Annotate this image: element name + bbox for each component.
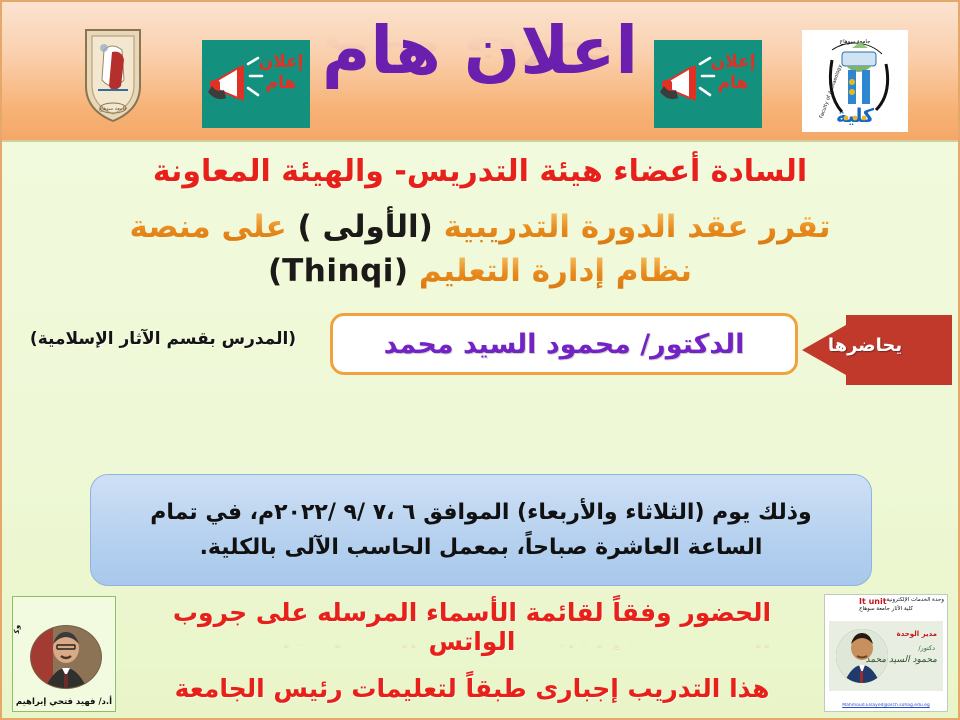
badge-line-2: هام <box>710 73 756 94</box>
badge-line-2: هام <box>258 73 304 94</box>
presented-by-arrow: يحاضرها <box>800 313 952 387</box>
lecturer-name: الدكتور/ محمود السيد محمد <box>384 329 745 360</box>
it-manager-role: مدير الوحدة <box>897 630 937 638</box>
faculty-of-archaeology-logo: جامعة سوهاج Faculty of Archaeology كلية <box>802 30 908 132</box>
it-unit-header: It unit وحدة الخدمات الإلكترونية كلية ال… <box>825 595 947 621</box>
it-unit-email-link[interactable]: Mahmoud.Elsayed@arch.sohag.edu.eg <box>833 703 939 708</box>
audience-line-reflection: السادة أعضاء هيئة التدريس- والهيئة المعا… <box>2 172 958 179</box>
attendance-note-reflection: الحضور وفقاً لقائمة الأسماء المرسله على … <box>126 644 818 650</box>
footer-notes: الحضور وفقاً لقائمة الأسماء المرسله على … <box>126 598 818 711</box>
course-line-part-a: تقرر عقد الدورة التدريبية <box>444 209 831 245</box>
announcement-badge-right: إعلان هام <box>654 40 762 128</box>
svg-text:جامعة سوهاج: جامعة سوهاج <box>99 106 127 112</box>
lecturer-row: (المدرس بقسم الآثار الإسلامية) الدكتور/ … <box>2 307 958 393</box>
poster-footer: وكيل الكلية عمادة كلية الآثار جامعة سوها… <box>2 592 958 718</box>
it-unit-card: It unit وحدة الخدمات الإلكترونية كلية ال… <box>824 594 948 712</box>
platform-name: (Thinqi) <box>268 253 408 289</box>
sohag-university-shield-icon: جامعة سوهاج <box>82 24 144 124</box>
mandatory-note: هذا التدريب إجبارى طبقاً لتعليمات رئيس ا… <box>126 674 818 703</box>
lecturer-department-title: (المدرس بقسم الآثار الإسلامية) <box>18 329 308 349</box>
it-unit-label: It unit <box>859 597 887 606</box>
svg-text:وكيل الكلية عمادة كلية الآثار: وكيل الكلية عمادة كلية الآثار جامعة سوها… <box>13 599 21 634</box>
megaphone-icon <box>660 54 716 112</box>
it-unit-faculty-name: كلية الآثار جامعة سوهاج <box>825 606 947 612</box>
presented-by-label: يحاضرها <box>800 335 930 356</box>
course-line: تقرر عقد الدورة التدريبية (الأولى ) على … <box>2 209 958 245</box>
dean-name: أ.د/ فهيد فتحي إبراهيم <box>13 697 115 707</box>
audience-line: السادة أعضاء هيئة التدريس- والهيئة المعا… <box>2 142 958 189</box>
poster-header: جامعة سوهاج إعلان هام <box>2 2 958 142</box>
poster-body: السادة أعضاء هيئة التدريس- والهيئة المعا… <box>2 142 958 718</box>
it-unit-body: مدير الوحدة دكتور/ محمود السيد محمد <box>829 621 943 691</box>
it-unit-arabic-name: وحدة الخدمات الإلكترونية <box>886 597 944 603</box>
badge-line-1: إعلان <box>710 52 756 73</box>
platform-line: نظام إدارة التعليم (Thinqi) <box>2 253 958 289</box>
mandatory-note-reflection: هذا التدريب إجبارى طبقاً لتعليمات رئيس ا… <box>126 691 818 697</box>
course-ordinal: (الأولى ) <box>298 209 433 245</box>
it-manager-prefix: دكتور/ <box>918 644 935 652</box>
platform-line-part-a: نظام إدارة التعليم <box>419 253 692 289</box>
badge-line-1: إعلان <box>258 52 304 73</box>
announcement-badge-text: إعلان هام <box>258 52 304 93</box>
svg-text:جامعة سوهاج: جامعة سوهاج <box>840 39 871 45</box>
it-manager-name: محمود السيد محمد <box>866 655 937 665</box>
dean-card: وكيل الكلية عمادة كلية الآثار جامعة سوها… <box>12 596 116 712</box>
date-venue-text: وذلك يوم (الثلاثاء والأربعاء) الموافق ٦ … <box>117 495 845 565</box>
megaphone-icon <box>208 54 264 112</box>
poster-headline: اعلان هام <box>322 16 638 85</box>
course-line-part-c: على منصة <box>130 209 287 245</box>
announcement-poster: جامعة سوهاج إعلان هام <box>0 0 960 720</box>
lecturer-name-box: الدكتور/ محمود السيد محمد <box>330 313 798 375</box>
announcement-badge-text: إعلان هام <box>710 52 756 93</box>
announcement-badge-left: إعلان هام <box>202 40 310 128</box>
dean-portrait <box>30 625 102 689</box>
date-venue-box: وذلك يوم (الثلاثاء والأربعاء) الموافق ٦ … <box>90 474 872 586</box>
